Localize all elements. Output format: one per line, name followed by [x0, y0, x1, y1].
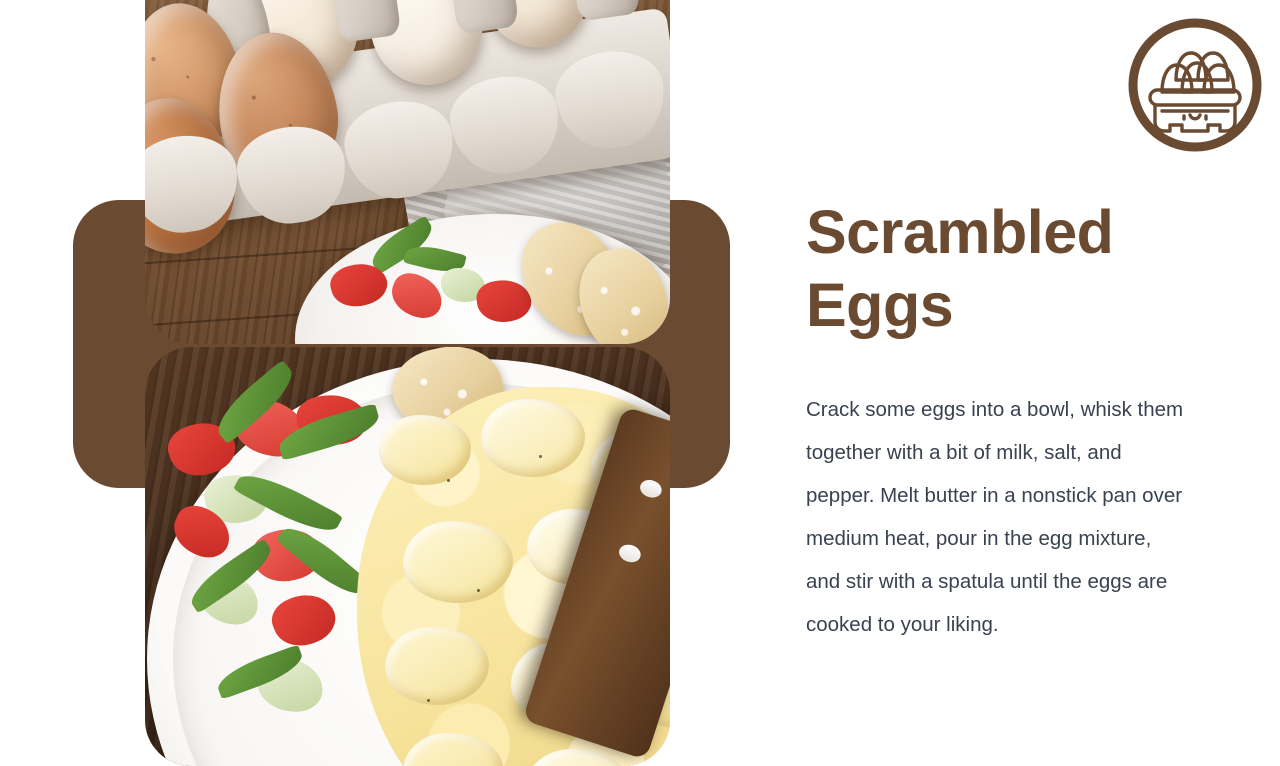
- egg-carton-logo: [1124, 14, 1266, 156]
- eggs-in-carton-photo: [145, 0, 670, 344]
- text-column: Scrambled Eggs Crack some eggs into a bo…: [806, 196, 1186, 646]
- recipe-description: Crack some eggs into a bowl, whisk them …: [806, 388, 1186, 646]
- page-title: Scrambled Eggs: [806, 196, 1186, 342]
- scrambled-eggs-plate-photo: [145, 347, 670, 766]
- slide-root: Scrambled Eggs Crack some eggs into a bo…: [0, 0, 1280, 720]
